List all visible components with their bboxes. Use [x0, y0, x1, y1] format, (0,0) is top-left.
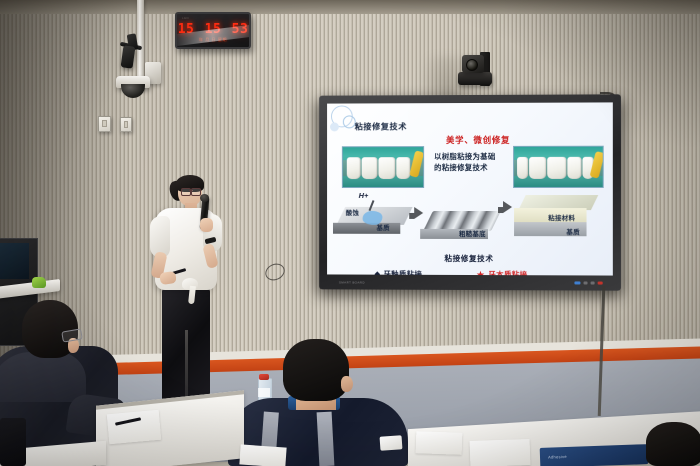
desk-paper-1	[107, 410, 161, 444]
diagram-substrate-label-1: 基质	[376, 223, 389, 232]
diagram-rough-base-label: 粗糙基底	[459, 229, 486, 238]
audience-2-ear	[341, 376, 353, 392]
water-bottle-label	[258, 388, 270, 397]
display-bezel-chin: SMART BOARD	[327, 275, 613, 288]
diagram-etch-label: 酸蚀	[346, 208, 359, 217]
slide-red-heading: 美学、微创修复	[446, 134, 510, 146]
green-object-on-cabinet	[32, 277, 46, 288]
slide-subtitle-line-2: 的粘接修复技术	[434, 162, 508, 173]
presenter-hand-right	[200, 218, 213, 232]
presentation-slide: 粘接修复技术 美学、微创修复 以树脂粘接为基础 的粘接修复技术	[327, 102, 613, 275]
desk-paper-3	[470, 439, 531, 466]
display-brand-logo: SMART BOARD	[339, 280, 365, 284]
legend-dentin-bonding: ★牙本质粘接	[476, 269, 527, 276]
blue-folder-label: Adhesive	[548, 454, 567, 460]
slide-subtitle: 以树脂粘接为基础 的粘接修复技术	[434, 151, 508, 173]
desk-paper-4	[239, 444, 286, 466]
audience-2-jacket-stripe-right	[317, 412, 335, 466]
presenter-glasses-icon	[181, 188, 201, 194]
slide-deco-circle-3	[330, 122, 339, 131]
blue-folder[interactable]: Adhesive	[540, 444, 649, 466]
ptz-camera-lens-icon	[466, 59, 478, 71]
legend-enamel-bonding: ◆牙釉质粘接	[375, 269, 423, 276]
water-bottle-cap	[259, 374, 269, 380]
desk-white-object	[380, 435, 403, 451]
wall-switch-left[interactable]	[98, 116, 111, 132]
legend-enamel-label: 牙釉质粘接	[384, 270, 423, 276]
microphone-head-icon	[200, 194, 209, 202]
star-bullet-icon: ★	[476, 270, 485, 276]
clinical-photo-before	[342, 146, 424, 188]
audience-2-head	[283, 339, 349, 401]
slide-subtitle-line-1: 以树脂粘接为基础	[434, 151, 508, 162]
display-standby-led	[598, 282, 603, 285]
arrow-2-icon	[503, 201, 512, 213]
display-screen: 粘接修复技术 美学、微创修复 以树脂粘接为基础 的粘接修复技术	[327, 102, 613, 275]
display-power-led	[574, 281, 580, 284]
chair-back	[0, 418, 26, 466]
cabinet-monitor	[0, 243, 29, 279]
acid-symbol-label: H+	[359, 191, 369, 200]
slide-caption: 粘接修复技术	[327, 253, 613, 265]
display-button-2[interactable]	[591, 282, 595, 285]
ptz-camera-base	[458, 72, 492, 85]
diagram-adhesive-label: 粘接材料	[548, 213, 575, 222]
audience-3-head	[646, 422, 700, 466]
display-button-1[interactable]	[584, 281, 588, 284]
desk-paper-2	[416, 431, 463, 455]
wall-switch-right[interactable]	[120, 117, 132, 132]
diamond-bullet-icon: ◆	[375, 269, 381, 275]
slide-title: 粘接修复技术	[355, 120, 407, 132]
diagram-substrate-label-2: 基质	[566, 227, 580, 236]
legend-dentin-label: 牙本质粘接	[488, 270, 527, 275]
diagram-block1-side	[333, 223, 400, 234]
clock-brand-label: LED	[182, 16, 244, 21]
display-control-buttons[interactable]	[574, 281, 602, 284]
audience-1-shoulder	[0, 352, 86, 402]
clinical-photo-after	[513, 146, 604, 188]
led-wall-clock: LED 15 15 53 年 月 日 星期	[175, 12, 251, 49]
arrow-1-icon	[414, 207, 423, 219]
interactive-flat-panel-display[interactable]: 粘接修复技术 美学、微创修复 以树脂粘接为基础 的粘接修复技术	[319, 94, 621, 290]
classroom-photo: LED 15 15 53 年 月 日 星期 粘接修复技术 美学、微创修复	[0, 0, 700, 466]
